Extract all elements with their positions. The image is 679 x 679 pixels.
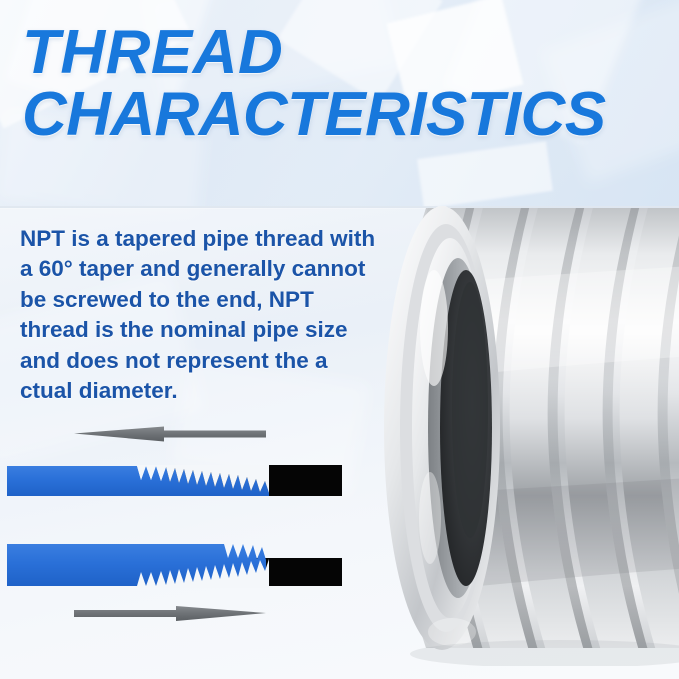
arrow-left-icon bbox=[74, 427, 266, 442]
page-title: THREAD CHARACTERISTICS bbox=[22, 24, 672, 145]
description-text: NPT is a tapered pipe thread with a 60° … bbox=[20, 224, 376, 407]
title-line-characteristics: CHARACTERISTICS bbox=[22, 86, 672, 144]
threaded-pipe-photo bbox=[330, 196, 679, 666]
title-line-thread: THREAD bbox=[22, 24, 672, 82]
thread-characteristics-infographic: THREAD CHARACTERISTICS NPT is a tapered … bbox=[0, 0, 679, 679]
arrow-right-icon bbox=[74, 606, 266, 621]
npt-thread-diagram bbox=[0, 408, 360, 640]
thread-bar-top bbox=[7, 465, 342, 496]
thread-bar-bottom bbox=[7, 544, 342, 588]
